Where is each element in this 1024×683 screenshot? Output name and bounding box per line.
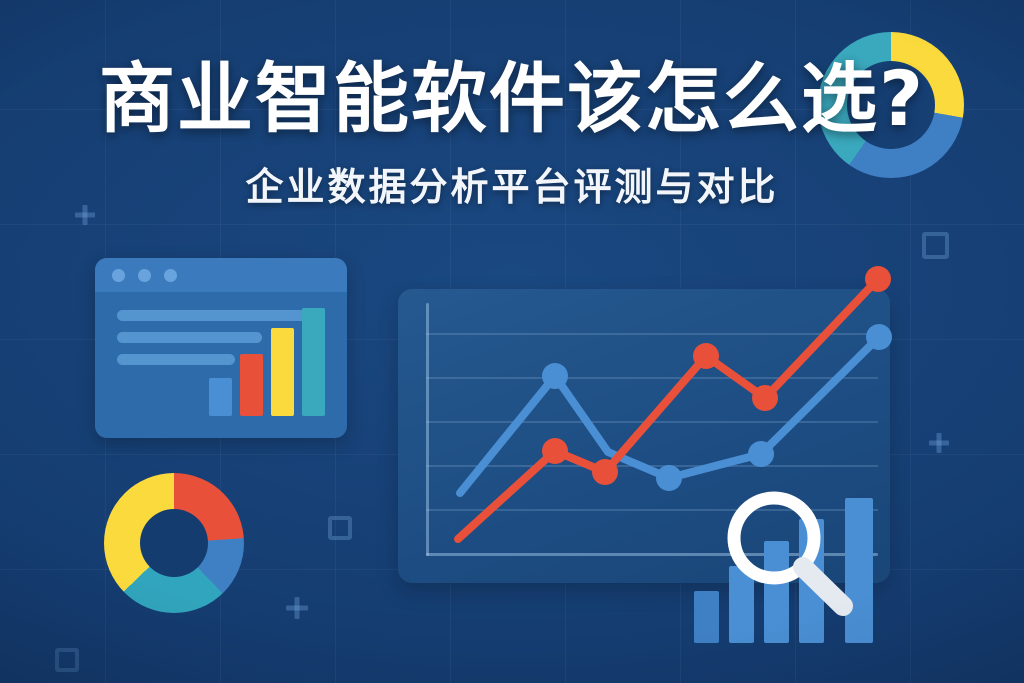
page-title: 商业智能软件该怎么选? (0, 58, 1024, 140)
page-subtitle: 企业数据分析平台评测与对比 (0, 156, 1024, 211)
title-block: 商业智能软件该怎么选? 企业数据分析平台评测与对比 (0, 58, 1024, 211)
poster-canvas: 商业智能软件该怎么选? 企业数据分析平台评测与对比 (0, 0, 1024, 683)
mini-bar (694, 591, 719, 643)
mini-bar (845, 498, 873, 643)
mini-bar (764, 541, 789, 643)
